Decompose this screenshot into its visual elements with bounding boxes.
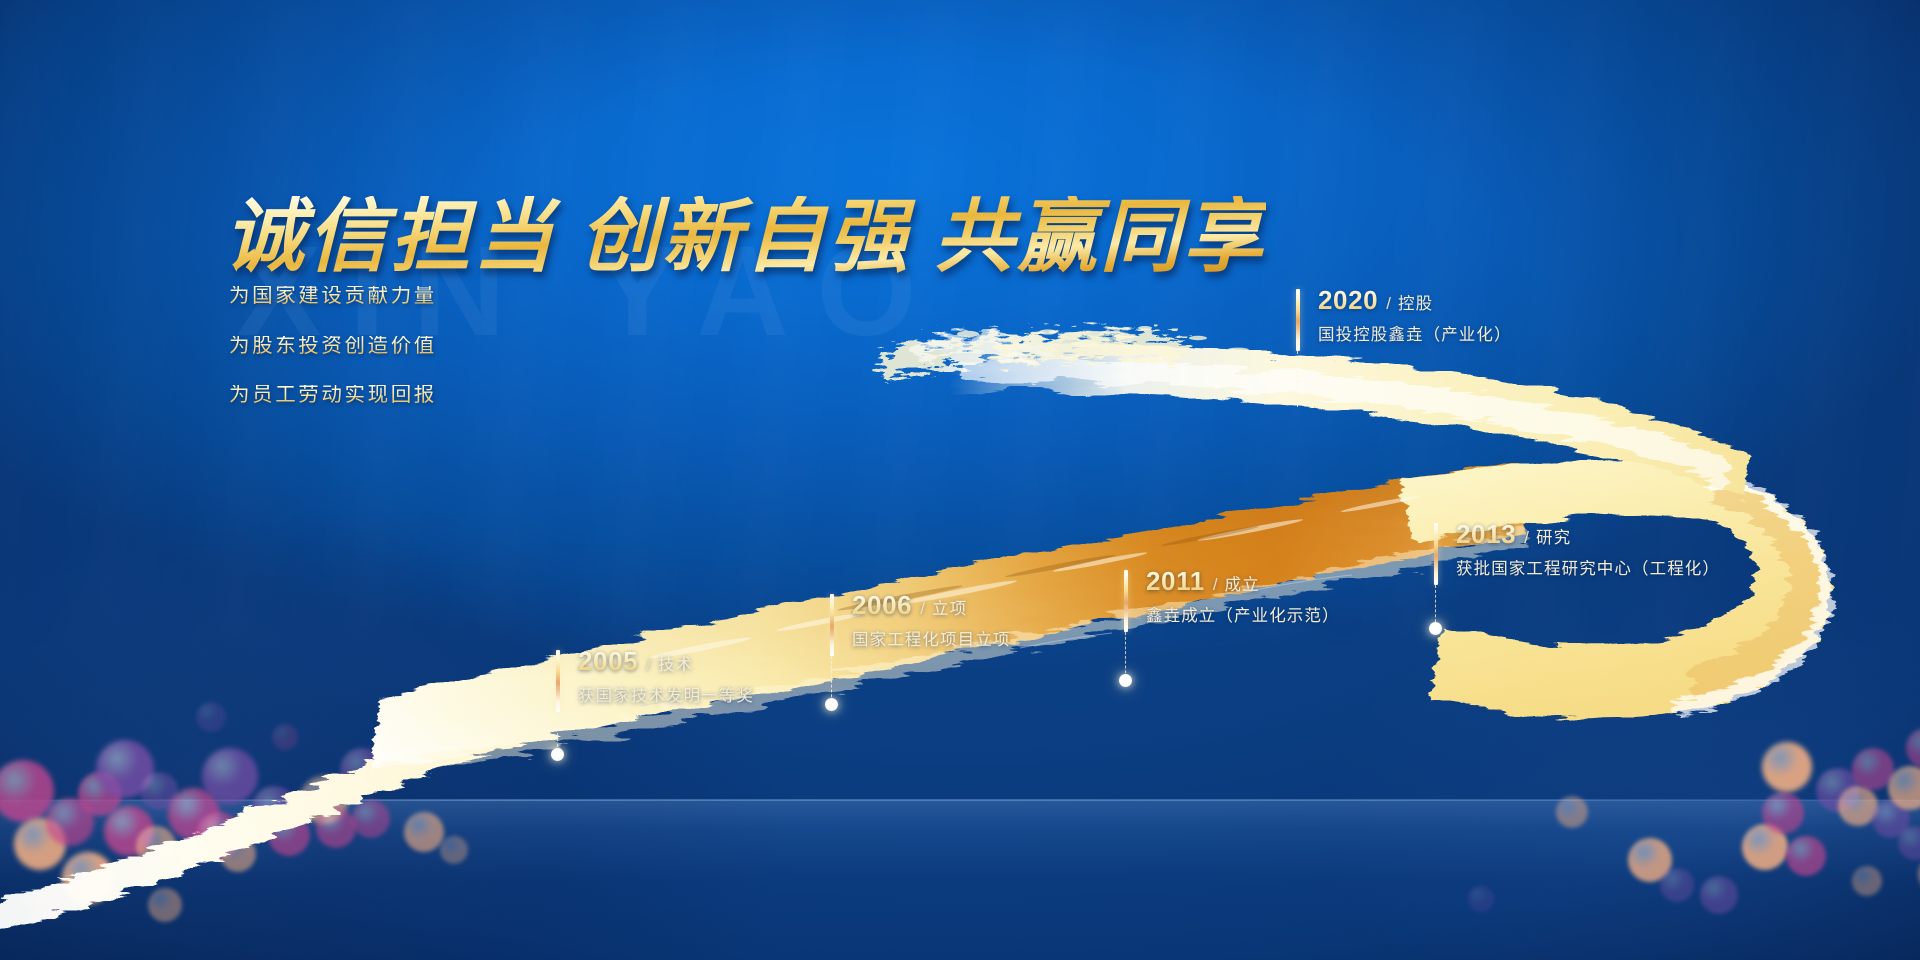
milestone-year: 2011 xyxy=(1146,568,1205,594)
milestone-description: 国投控股鑫垚（产业化） xyxy=(1318,327,1512,344)
milestone-year: 2020 xyxy=(1318,287,1378,313)
subtitle-line-3: 为员工劳动实现回报 xyxy=(229,385,437,406)
milestone-separator: / xyxy=(1524,529,1529,546)
milestone-year: 2005 xyxy=(578,648,638,674)
milestone-category: 立项 xyxy=(932,601,967,618)
milestone-dot-2013[interactable] xyxy=(1429,622,1442,635)
milestone-category: 成立 xyxy=(1225,577,1260,594)
milestone-accent-bar xyxy=(1434,523,1438,585)
milestone-separator: / xyxy=(1213,576,1218,593)
milestone-text: 2005 / 技术 获国家技术发明一等奖 xyxy=(578,648,754,705)
milestone-description: 国家工程化项目立项 xyxy=(852,632,1010,649)
milestone-accent-bar xyxy=(556,650,560,712)
milestone-year: 2013 xyxy=(1456,521,1516,547)
milestone-description: 鑫垚成立（产业化示范） xyxy=(1146,608,1340,625)
milestone-category: 控股 xyxy=(1398,296,1433,313)
subtitle-line-2: 为股东投资创造价值 xyxy=(229,336,437,357)
title-block: 诚信担当 创新自强 共赢同享 xyxy=(224,196,1266,280)
milestone-leader-line-2020 xyxy=(1297,351,1298,407)
milestone-leader-line-2006 xyxy=(831,656,832,702)
milestone-year-row: 2011 / 成立 xyxy=(1146,568,1340,594)
milestone-description: 获批国家工程研究中心（工程化） xyxy=(1456,561,1720,578)
banner-stage: XIN YAO 诚信担当 创新自强 共赢同享 为国家建设贡献力量 为股东投资创造… xyxy=(0,0,1920,960)
milestone-accent-bar xyxy=(1296,289,1300,351)
milestone-accent-bar xyxy=(830,594,834,656)
milestone-text: 2020 / 控股 国投控股鑫垚（产业化） xyxy=(1318,287,1512,344)
milestone-text: 2011 / 成立 鑫垚成立（产业化示范） xyxy=(1146,568,1340,625)
milestone-leader-line-2013 xyxy=(1435,585,1436,627)
milestone-year: 2006 xyxy=(852,592,912,618)
subtitle-list: 为国家建设贡献力量 为股东投资创造价值 为员工劳动实现回报 xyxy=(229,286,437,435)
milestone-dot-2006[interactable] xyxy=(825,698,838,711)
subtitle-line-1: 为国家建设贡献力量 xyxy=(229,286,437,307)
milestone-separator: / xyxy=(1386,295,1391,312)
milestone-year-row: 2005 / 技术 xyxy=(578,648,754,674)
milestone-year-row: 2006 / 立项 xyxy=(852,592,1010,618)
milestone-separator: / xyxy=(646,656,651,673)
milestone-text: 2006 / 立项 国家工程化项目立项 xyxy=(852,592,1010,649)
brush-stroke-swoosh xyxy=(0,0,1920,960)
milestone-separator: / xyxy=(920,600,925,617)
milestone-leader-line-2011 xyxy=(1125,632,1126,678)
milestone-category: 技术 xyxy=(658,657,693,674)
milestone-dot-2011[interactable] xyxy=(1119,674,1132,687)
milestone-leader-line-2005 xyxy=(557,712,558,752)
page-title: 诚信担当 创新自强 共赢同享 xyxy=(224,196,1266,280)
milestone-description: 获国家技术发明一等奖 xyxy=(578,688,754,705)
milestone-dot-2005[interactable] xyxy=(551,748,564,761)
milestone-year-row: 2013 / 研究 xyxy=(1456,521,1720,547)
milestone-category: 研究 xyxy=(1536,530,1571,547)
milestone-accent-bar xyxy=(1124,570,1128,632)
milestone-year-row: 2020 / 控股 xyxy=(1318,287,1512,313)
milestone-text: 2013 / 研究 获批国家工程研究中心（工程化） xyxy=(1456,521,1720,578)
